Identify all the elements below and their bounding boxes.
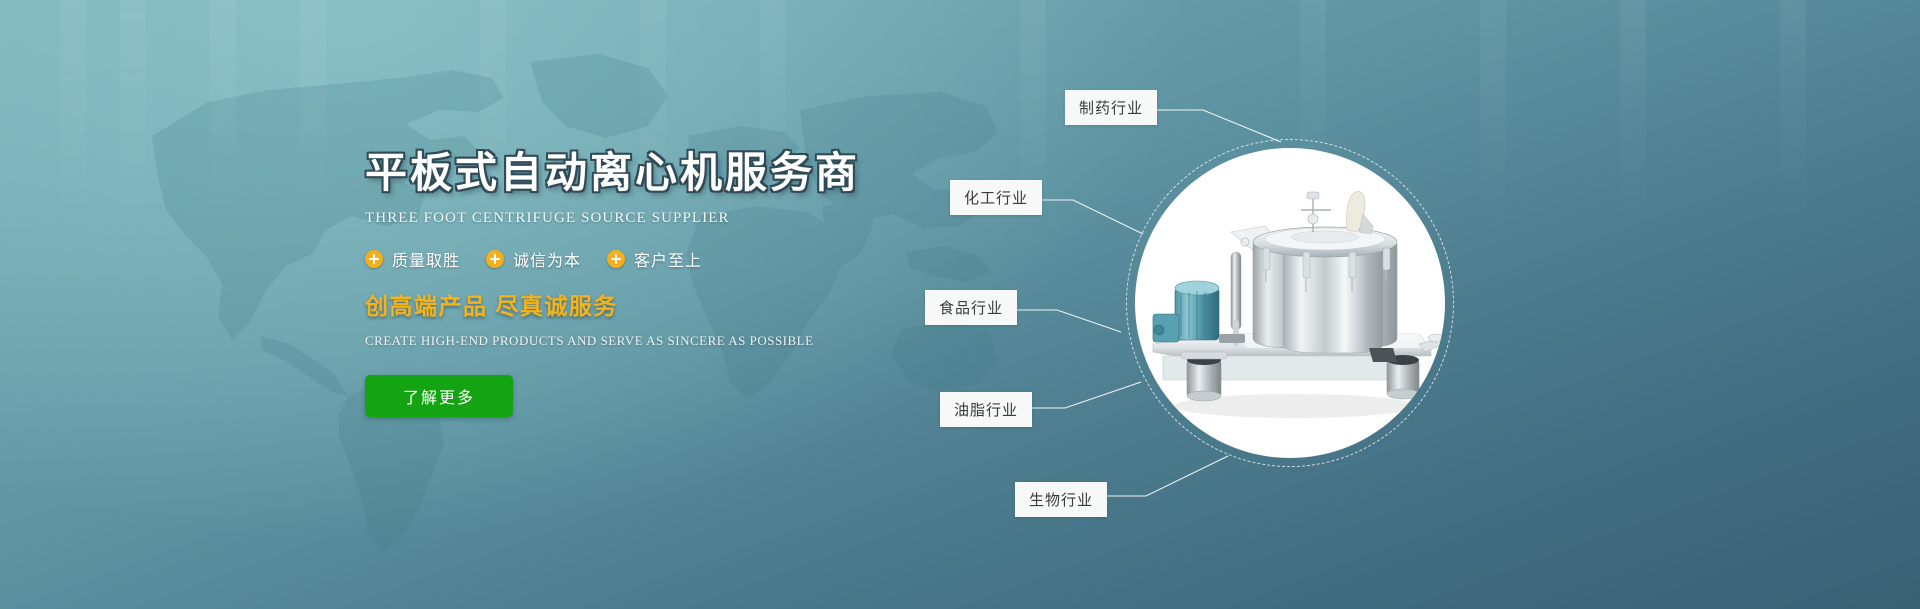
learn-more-button[interactable]: 了解更多 [365,375,513,417]
hero-banner: 平板式自动离心机服务商 THREE FOOT CENTRIFUGE SOURCE… [0,0,1920,609]
plus-circle-icon [486,250,504,268]
callout-food[interactable]: 食品行业 [925,290,1017,325]
tagline-english: CREATE HIGH-END PRODUCTS AND SERVE AS SI… [365,333,1125,349]
plus-circle-icon [365,250,383,268]
callout-chemical[interactable]: 化工行业 [950,180,1042,215]
product-image [1135,148,1445,458]
feature-label: 质量取胜 [392,247,460,271]
plus-circle-icon [607,250,625,268]
feature-item: 客户至上 [607,247,702,271]
callout-biology[interactable]: 生物行业 [1015,482,1107,517]
feature-label: 诚信为本 [513,247,581,271]
product-showcase [1135,148,1445,458]
feature-item: 诚信为本 [486,247,581,271]
feature-label: 客户至上 [634,247,702,271]
callout-pharmaceutical[interactable]: 制药行业 [1065,90,1157,125]
feature-list: 质量取胜 诚信为本 客户至上 [365,247,1125,271]
feature-item: 质量取胜 [365,247,460,271]
callout-oil-fat[interactable]: 油脂行业 [940,392,1032,427]
